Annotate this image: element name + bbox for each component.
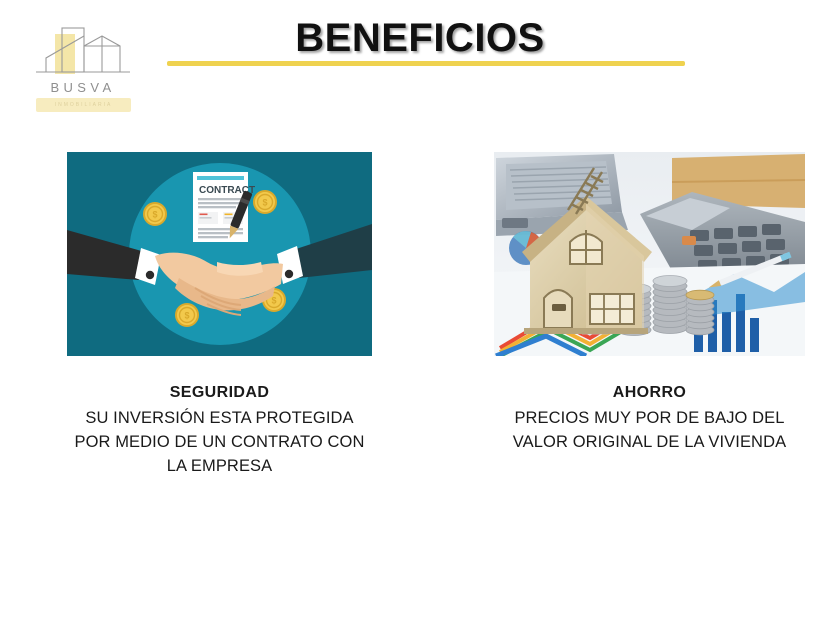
logo-tagline-band: INMOBILIARIA [36, 98, 131, 112]
benefit-heading: AHORRO [494, 384, 805, 402]
svg-text:$: $ [262, 198, 267, 208]
model-house-savings-graphic [494, 152, 805, 356]
title-underline-rule [167, 61, 685, 66]
handshake-contract-illustration: $ $ $ $ [67, 152, 372, 356]
benefit-card-ahorro: AHORRO PRECIOS MUY POR DE BAJO DEL VALOR… [494, 152, 805, 455]
window-icon [590, 294, 634, 324]
logo-tagline: INMOBILIARIA [55, 102, 113, 108]
benefit-body: PRECIOS MUY POR DE BAJO DEL VALOR ORIGIN… [494, 407, 805, 455]
handshake-contract-graphic: $ $ $ $ [67, 152, 372, 356]
door-icon [544, 290, 572, 328]
svg-text:$: $ [184, 311, 189, 321]
right-arm-shape [277, 224, 372, 284]
slide-root: BUSVA INMOBILIARIA BENEFICIOS $ [0, 0, 840, 630]
benefit-card-seguridad: $ $ $ $ [67, 152, 372, 479]
left-arm-shape [67, 230, 161, 285]
benefit-caption-seguridad: SEGURIDAD SU INVERSIÓN ESTA PROTEGIDA PO… [67, 384, 372, 479]
benefit-caption-ahorro: AHORRO PRECIOS MUY POR DE BAJO DEL VALOR… [494, 384, 805, 455]
benefit-heading: SEGURIDAD [67, 384, 372, 402]
svg-text:$: $ [271, 296, 276, 306]
svg-text:$: $ [152, 210, 157, 220]
logo-wordmark: BUSVA [24, 80, 142, 95]
benefit-body: SU INVERSIÓN ESTA PROTEGIDA POR MEDIO DE… [67, 407, 372, 479]
page-title: BENEFICIOS [0, 16, 840, 61]
model-house-savings-photo [494, 152, 805, 356]
